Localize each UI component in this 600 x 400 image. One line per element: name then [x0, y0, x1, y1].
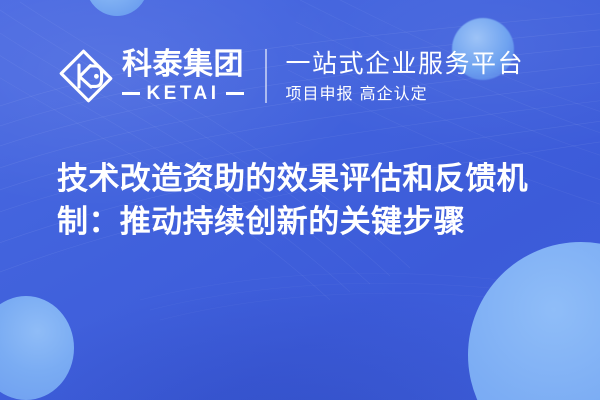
logo-dash-left [122, 92, 140, 95]
slogan-sub-text: 项目申报 高企认定 [286, 85, 525, 103]
header-divider [265, 49, 267, 103]
brand-name-cn: 科泰集团 [122, 50, 244, 80]
brand-name-en-row: KETAI [122, 84, 244, 103]
banner-header: 科泰集团 KETAI 一站式企业服务平台 项目申报 高企认定 [0, 36, 600, 116]
promo-banner: 科泰集团 KETAI 一站式企业服务平台 项目申报 高企认定 技术改造资助的效果… [0, 0, 600, 400]
logo-dash-right [226, 92, 244, 95]
slogan-main-text: 一站式企业服务平台 [286, 50, 525, 77]
header-slogan: 一站式企业服务平台 项目申报 高企认定 [286, 50, 525, 103]
brand-logo[interactable]: 科泰集团 KETAI [57, 47, 244, 105]
kd-monogram-diamond-icon [57, 47, 115, 105]
brand-name-en: KETAI [140, 84, 225, 103]
brand-logo-text: 科泰集团 KETAI [122, 50, 244, 103]
page-title: 技术改造资助的效果评估和反馈机制：推动持续创新的关键步骤 [57, 158, 557, 244]
